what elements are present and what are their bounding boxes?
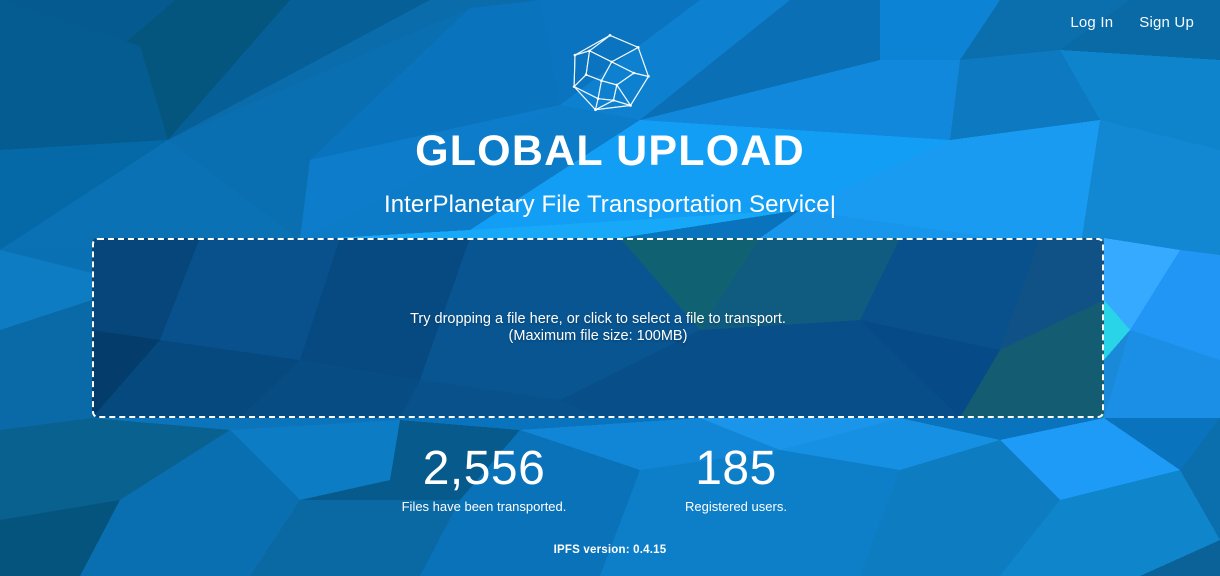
- stats-section: 2,556 Files have been transported. 185 R…: [0, 444, 1220, 515]
- stat-registered-users: 185 Registered users.: [610, 444, 862, 515]
- ipfs-version-label: IPFS version: 0.4.15: [554, 544, 667, 556]
- login-link[interactable]: Log In: [1070, 14, 1113, 31]
- file-dropzone[interactable]: Try dropping a file here, or click to se…: [92, 238, 1104, 418]
- stat-files-transported: 2,556 Files have been transported.: [358, 444, 610, 515]
- stat-registered-users-label: Registered users.: [610, 499, 862, 515]
- dropzone-instructions: Try dropping a file here, or click to se…: [410, 311, 786, 344]
- tagline: InterPlanetary File Transportation Servi…: [0, 191, 1220, 220]
- app-root: Log In Sign Up: [0, 0, 1220, 576]
- stat-registered-users-value: 185: [610, 444, 862, 494]
- page-footer: IPFS version: 0.4.15: [0, 540, 1220, 558]
- typing-caret: |: [830, 192, 836, 221]
- top-navigation: Log In Sign Up: [1070, 0, 1220, 44]
- ipfs-polyhedron-icon: [567, 32, 653, 114]
- page-title: GLOBAL UPLOAD: [0, 128, 1220, 175]
- stat-files-transported-value: 2,556: [358, 444, 610, 494]
- dropzone-primary-text: Try dropping a file here, or click to se…: [410, 311, 786, 327]
- hero-section: GLOBAL UPLOAD InterPlanetary File Transp…: [0, 0, 1220, 220]
- dropzone-secondary-text: (Maximum file size: 100MB): [509, 328, 688, 344]
- signup-link[interactable]: Sign Up: [1139, 14, 1194, 31]
- tagline-text: InterPlanetary File Transportation Servi…: [384, 191, 830, 218]
- logo-container: [0, 32, 1220, 114]
- stat-files-transported-label: Files have been transported.: [358, 499, 610, 515]
